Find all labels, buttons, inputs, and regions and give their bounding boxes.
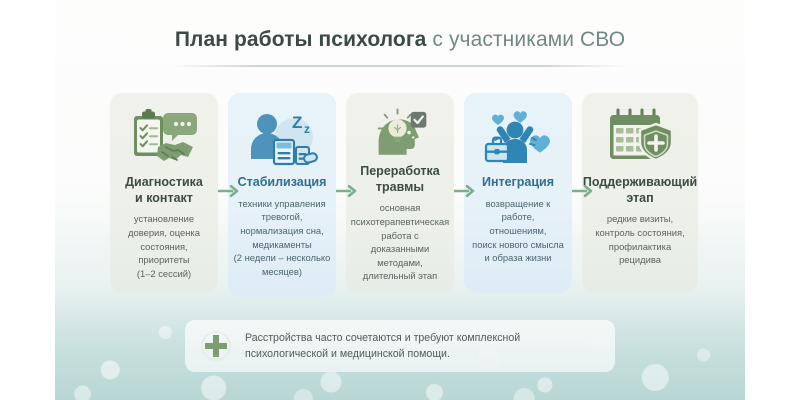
title-divider <box>173 65 625 67</box>
stage-card-title: Стабилизация <box>236 175 329 191</box>
infographic-poster: План работы психолога с участниками СВО <box>0 0 800 400</box>
stage-card-body: основнаяпсихотерапевтическаяработа с док… <box>350 201 450 283</box>
arrow-right-icon <box>218 184 240 198</box>
stage-card-podderzhivayushchiy-etap[interactable]: Поддерживающийэтап редкие визиты,контрол… <box>582 93 698 293</box>
stage-card-body: возвращение к работе,отношениям,поиск но… <box>468 197 568 265</box>
svg-text:Z: Z <box>292 113 302 132</box>
stage-card-pererabotka-travmy[interactable]: Переработкатравмы основнаяпсихотерапевти… <box>346 93 454 293</box>
page-title-light: с участниками СВО <box>426 28 625 51</box>
background-left-margin <box>0 0 55 400</box>
arrow-right-icon <box>336 184 358 198</box>
stages-row: Диагностикаи контакт установлениедоверия… <box>110 93 690 303</box>
stage-card-body: установлениедоверия, оценкасостояния, пр… <box>114 212 214 280</box>
stage-card-title: Интеграция <box>480 175 556 191</box>
arrow-right-icon <box>572 184 594 198</box>
stage-card-title: Переработкатравмы <box>358 164 442 195</box>
person-arms-up-hearts-briefcase-icon <box>482 107 554 169</box>
stage-card-stabilizaciya[interactable]: Z z Стабилизация техники управлениятрево… <box>228 93 336 297</box>
svg-text:z: z <box>304 122 310 136</box>
page-title-strong: План работы психолога <box>175 28 427 51</box>
stage-card-title: Диагностикаи контакт <box>123 175 205 206</box>
medical-cross-icon <box>201 331 231 361</box>
sleeping-person-medication-icon: Z z <box>246 107 318 169</box>
clipboard-checklist-handshake-icon <box>128 107 200 169</box>
background-right-margin <box>745 0 800 400</box>
stage-card-body: редкие визиты,контроль состояния,профила… <box>594 212 685 267</box>
footer-note-banner: Расстройства часто сочетаются и требуют … <box>185 320 615 372</box>
stage-card-body: техники управлениятревогой,нормализация … <box>233 197 332 279</box>
calendar-shield-plus-icon <box>604 107 676 169</box>
footer-note-text: Расстройства часто сочетаются и требуют … <box>245 330 520 363</box>
stage-card-diagnostika[interactable]: Диагностикаи контакт установлениедоверия… <box>110 93 218 293</box>
footer-note-line-1: Расстройства часто сочетаются и требуют … <box>245 330 520 346</box>
footer-note-line-2: психологической и медицинской помощи. <box>245 346 520 362</box>
stage-card-integraciya[interactable]: Интеграция возвращение к работе,отношени… <box>464 93 572 293</box>
arrow-right-icon <box>454 184 476 198</box>
head-lightbulb-check-icon <box>364 107 436 158</box>
page-title: План работы психолога с участниками СВО <box>0 28 800 52</box>
stage-card-title: Поддерживающийэтап <box>581 175 699 206</box>
